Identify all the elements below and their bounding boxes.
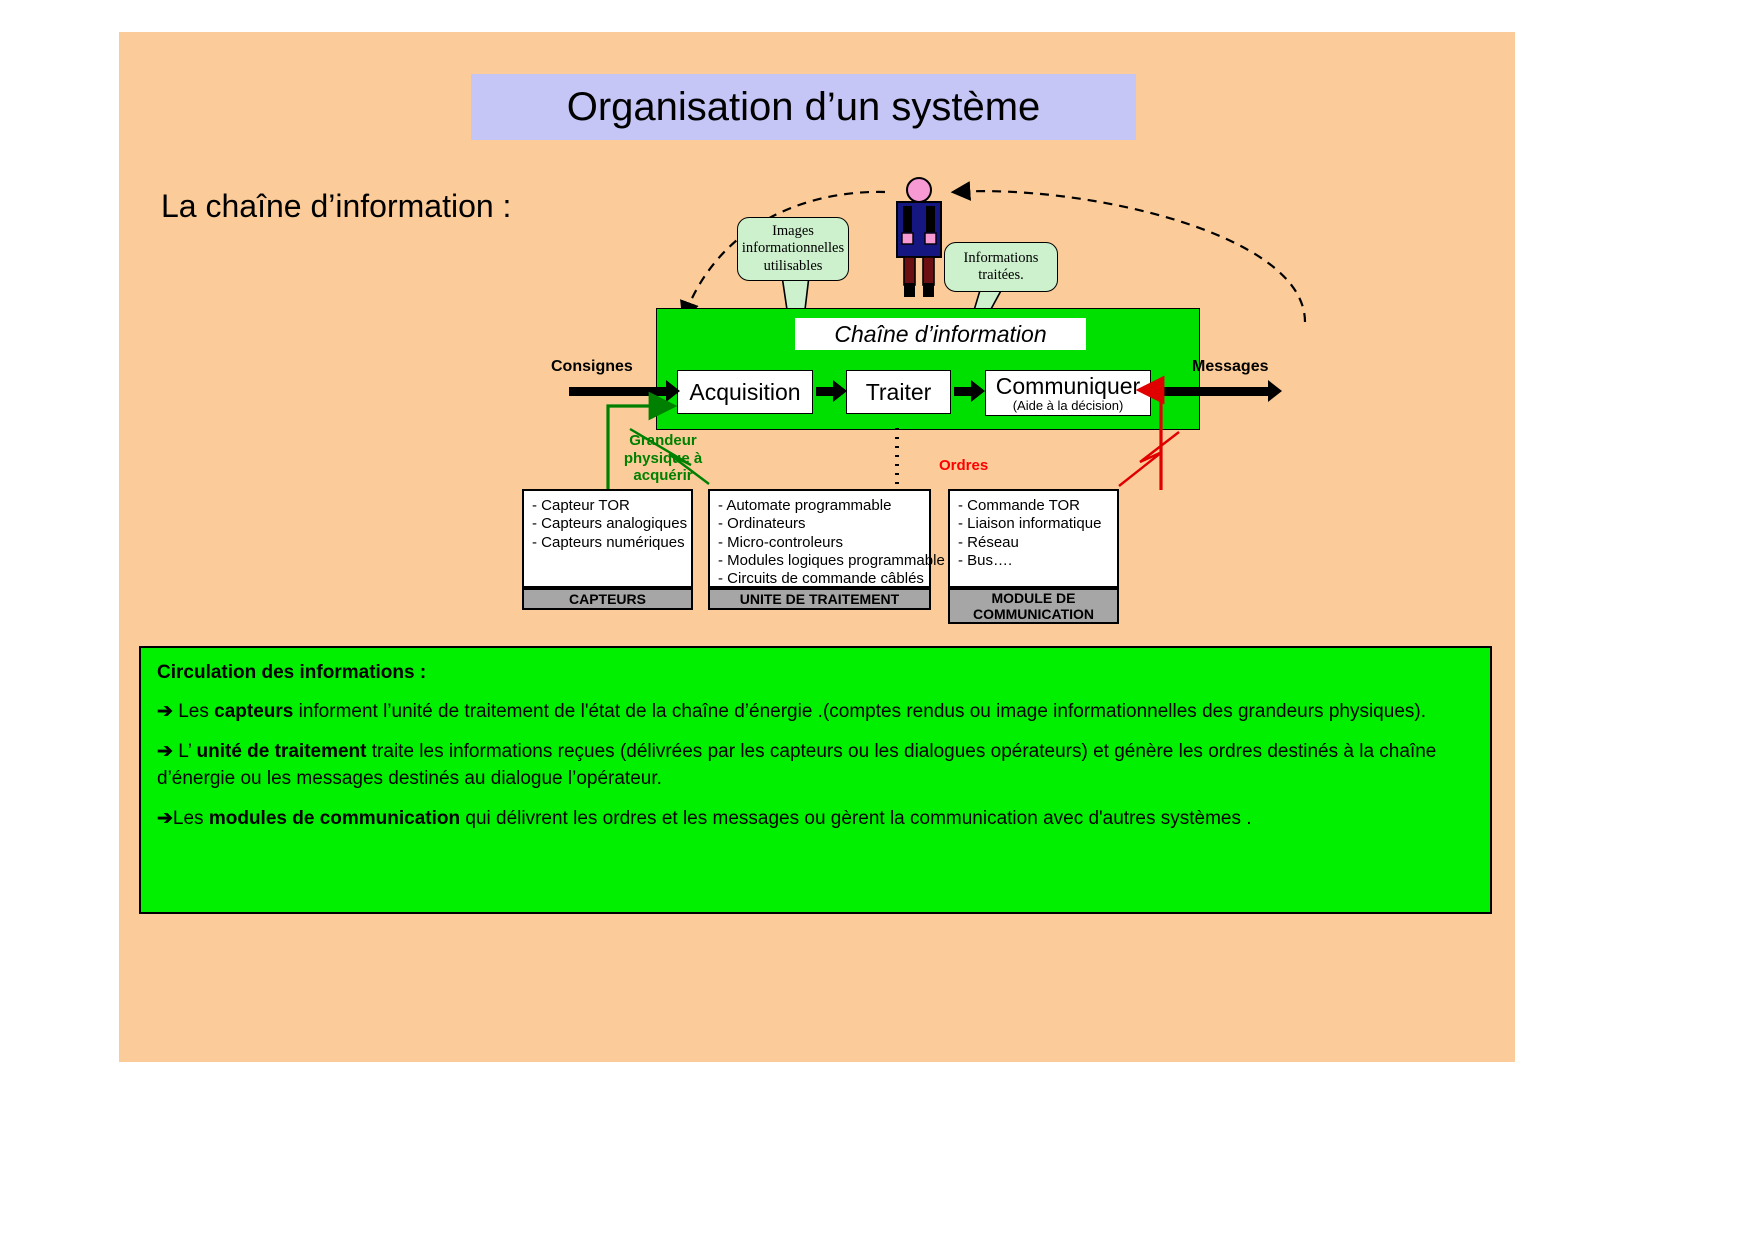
section-subtitle: La chaîne d’information : (161, 188, 511, 225)
page-title-banner: Organisation d’un système (471, 74, 1136, 140)
block-traiter: Traiter (846, 370, 951, 414)
detail-box-unite-traitement: - Automate programmable - Ordinateurs - … (708, 489, 931, 588)
info-panel-circulation: Circulation des informations : ➔ Les cap… (139, 646, 1492, 914)
header-module-communication: MODULE DE COMMUNICATION (948, 588, 1119, 624)
label-messages: Messages (1192, 358, 1269, 376)
bubble-images-text: Images informationnelles utilisables (738, 223, 848, 274)
list-item: - Capteurs numériques (532, 534, 683, 552)
arrow-acquisition-to-traiter (816, 387, 834, 396)
label-ordres: Ordres (939, 457, 988, 474)
list-item: - Capteur TOR (532, 497, 683, 515)
bubble-infos-text: Informations traitées. (945, 250, 1057, 284)
header-capteurs: CAPTEURS (522, 588, 693, 610)
operator-figure-icon (891, 177, 947, 302)
list-item: - Capteurs analogiques (532, 515, 683, 533)
bubble-informations-traitees: Informations traitées. (944, 242, 1058, 292)
list-item: - Ordinateurs (718, 515, 921, 533)
info-bullet-1: ➔ Les capteurs informent l’unité de trai… (157, 698, 1474, 726)
detail-box-capteurs: - Capteur TOR - Capteurs analogiques - C… (522, 489, 693, 588)
list-item: - Modules logiques programmable (718, 552, 921, 570)
list-item: - Micro-controleurs (718, 534, 921, 552)
info-bullet-3: ➔Les modules de communication qui délivr… (157, 805, 1474, 833)
header-unite-traitement: UNITE DE TRAITEMENT (708, 588, 931, 610)
arrow-consignes-in (569, 387, 667, 396)
arrow-messages-out (1154, 387, 1269, 396)
block-traiter-label: Traiter (866, 381, 932, 404)
block-communiquer-sublabel: (Aide à la décision) (1013, 399, 1124, 412)
slide-canvas: Organisation d’un système La chaîne d’in… (119, 32, 1515, 1062)
block-acquisition: Acquisition (677, 370, 813, 414)
page-title: Organisation d’un système (471, 74, 1136, 140)
arrow-glyph-icon: ➔ (157, 741, 173, 762)
bubble-images-informationnelles: Images informationnelles utilisables (737, 217, 849, 281)
chain-of-information-label: Chaîne d’information (795, 318, 1086, 350)
label-grandeur-physique: Grandeur physique à acquérir (613, 432, 713, 485)
list-item: - Réseau (958, 534, 1109, 552)
arrow-glyph-icon: ➔ (157, 701, 173, 722)
block-communiquer-label: Communiquer (996, 375, 1140, 398)
list-item: - Automate programmable (718, 497, 921, 515)
list-item: - Bus…. (958, 552, 1109, 570)
detail-box-module-communication: - Commande TOR - Liaison informatique - … (948, 489, 1119, 588)
block-communiquer: Communiquer (Aide à la décision) (985, 370, 1151, 416)
list-item: - Commande TOR (958, 497, 1109, 515)
arrow-traiter-to-communiquer (954, 387, 972, 396)
label-consignes: Consignes (551, 358, 633, 376)
info-panel-heading: Circulation des informations : (157, 662, 1474, 684)
info-bullet-2: ➔ L’ unité de traitement traite les info… (157, 738, 1474, 793)
arrow-glyph-icon: ➔ (157, 808, 173, 829)
list-item: - Liaison informatique (958, 515, 1109, 533)
list-item: - Circuits de commande câblés (718, 570, 921, 588)
block-acquisition-label: Acquisition (689, 381, 800, 404)
